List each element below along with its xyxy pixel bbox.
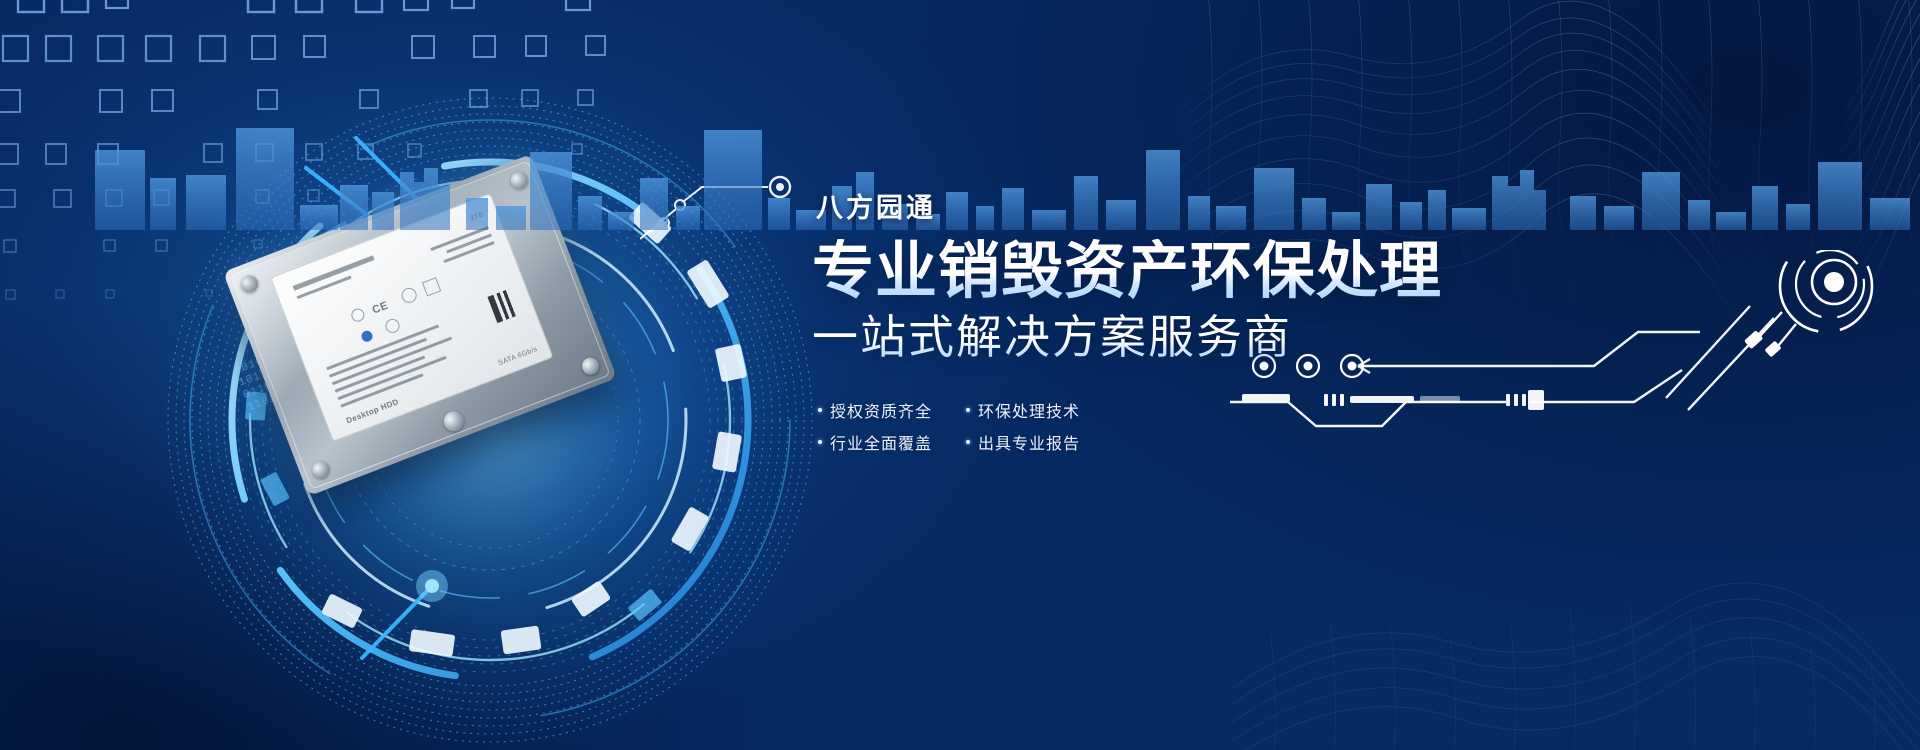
hero-headline: 专业销毁资产环保处理 [812,239,1512,304]
feature-label: 出具专业报告 [978,430,1080,454]
feature-list: 授权资质齐全 环保处理技术 行业全面覆盖 出具专业报告 [818,394,1512,458]
bullet-dot-icon [966,440,970,444]
ce-mark: CE [371,300,390,317]
bullet-dot-icon [818,408,822,412]
bullet-dot-icon [818,440,822,444]
feature-item: 行业全面覆盖 [818,426,948,458]
banner-hero: 0010 1001 100 1011 001 110 0110 111 101 … [0,0,1920,750]
feature-label: 授权资质齐全 [830,398,932,422]
feature-label: 环保处理技术 [978,398,1080,422]
hdd-interface: SATA 6Gb/s [497,346,538,367]
hdd-qr-code [487,287,523,323]
hero-subheadline: 一站式解决方案服务商 [812,312,1512,364]
feature-item: 出具专业报告 [966,426,1096,458]
brand-name: 八方园通 [816,186,1512,225]
feature-label: 行业全面覆盖 [830,430,932,454]
hero-copy: 八方园通 专业销毁资产环保处理 一站式解决方案服务商 授权资质齐全 环保处理技术… [812,186,1512,458]
bullet-dot-icon [966,408,970,412]
feature-item: 授权资质齐全 [818,394,948,426]
feature-item: 环保处理技术 [966,394,1096,426]
